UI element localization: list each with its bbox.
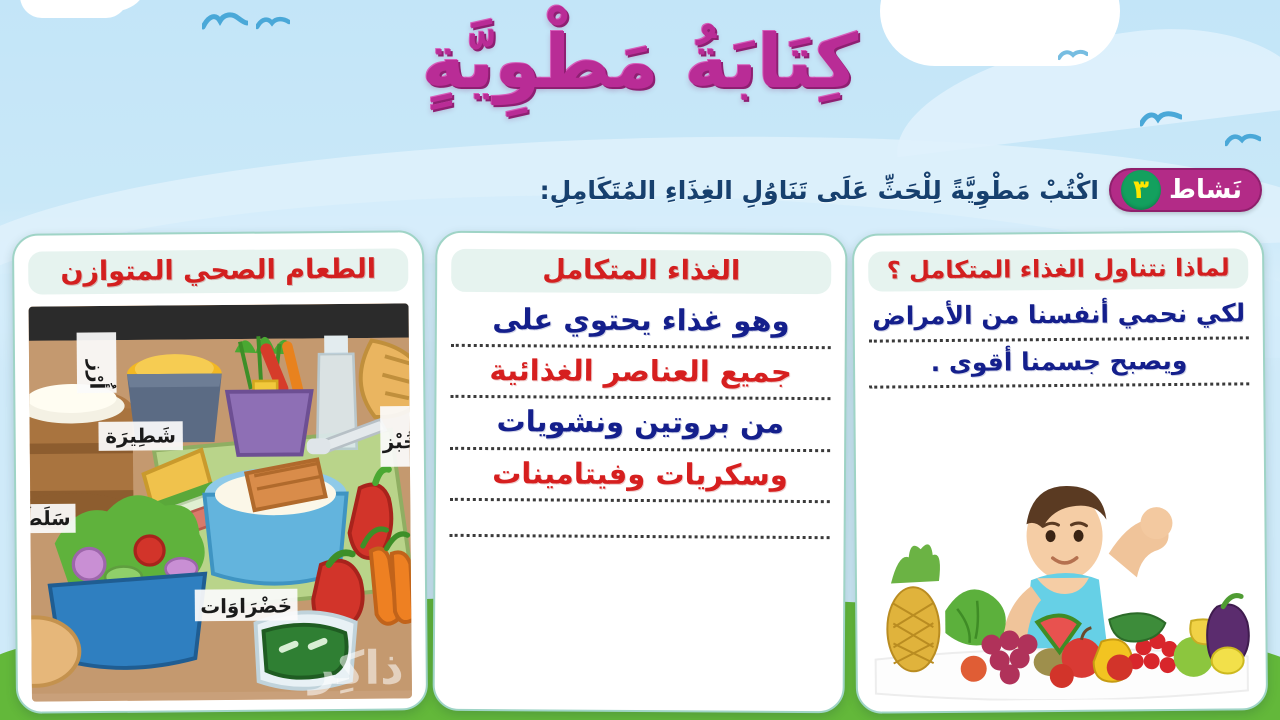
why-answer-lines: لكي نحمي أنفسنا من الأمراض ويصبح جسمنا أ…	[869, 298, 1250, 392]
worksheet-page: كِتَابَةُ مَطْوِيَّةٍ نَشاط ٣ اكْتُبْ مَ…	[0, 0, 1280, 720]
brochure-panel-definition: الغذاء المتكامل وهو غذاء يحتوي على جميع …	[433, 231, 848, 714]
answer-line[interactable]: لكي نحمي أنفسنا من الأمراض	[869, 298, 1249, 342]
page-title: كِتَابَةُ مَطْوِيَّةٍ	[0, 16, 1280, 109]
healthy-meal-table-illustration: أُرْز شَطِيرَة خُبْز سَلَطَة خَضْرَاوَات…	[29, 303, 412, 701]
answer-line[interactable]: من بروتين ونشويات	[450, 404, 830, 452]
brochure-panel-cover: الطعام الصحي المتوازن	[12, 230, 428, 714]
bird-icon	[1140, 110, 1182, 128]
svg-text:شَطِيرَة: شَطِيرَة	[105, 424, 176, 448]
panel-heading-cover: الطعام الصحي المتوازن	[28, 248, 408, 294]
answer-line[interactable]: وسكريات وفيتامينات	[450, 455, 830, 503]
trifold-brochure: الطعام الصحي المتوازن	[14, 232, 1266, 712]
answer-line[interactable]: جميع العناصر الغذائية	[450, 353, 830, 401]
activity-badge: نَشاط ٣	[1109, 168, 1262, 212]
svg-text:خَضْرَاوَات: خَضْرَاوَات	[200, 594, 292, 618]
activity-badge-label: نَشاط	[1169, 175, 1242, 205]
activity-instruction: اكْتُبْ مَطْوِيَّةً لِلْحَثِّ عَلَى تَنَ…	[540, 176, 1099, 205]
answer-line[interactable]: وهو غذاء يحتوي على	[451, 302, 831, 350]
panel-heading-definition: الغذاء المتكامل	[451, 249, 831, 294]
answer-line-empty[interactable]	[450, 507, 830, 539]
boy-flexing-with-fruits-photo	[870, 460, 1252, 701]
svg-text:خُبْز: خُبْز	[382, 430, 412, 453]
activity-number: ٣	[1121, 170, 1161, 210]
answer-line[interactable]: ويصبح جسمنا أقوى .	[869, 345, 1249, 389]
bird-icon	[1225, 132, 1261, 148]
definition-answer-lines: وهو غذاء يحتوي على جميع العناصر الغذائية…	[450, 302, 831, 543]
activity-bar: نَشاط ٣ اكْتُبْ مَطْوِيَّةً لِلْحَثِّ عَ…	[540, 168, 1262, 212]
panel-heading-why: لماذا نتناول الغذاء المتكامل ؟	[868, 248, 1248, 291]
svg-text:سَلَطَة: سَلَطَة	[29, 506, 71, 531]
brochure-panel-why: لماذا نتناول الغذاء المتكامل ؟ لكي نحمي …	[852, 230, 1268, 714]
